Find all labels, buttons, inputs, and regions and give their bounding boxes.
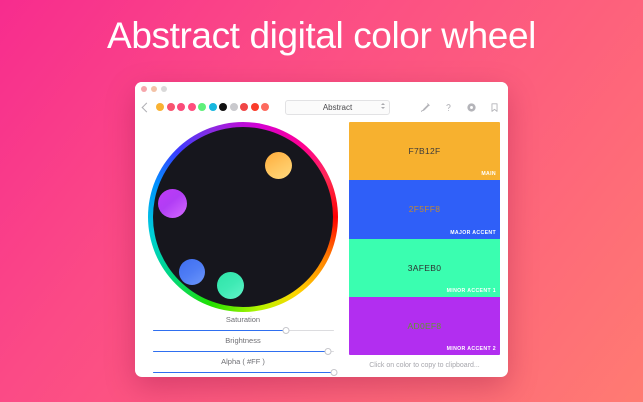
palette-dot-list <box>156 103 269 111</box>
color-wheel[interactable] <box>145 122 341 312</box>
wheel-dot-orange[interactable] <box>265 152 292 179</box>
swatch-role: MINOR ACCENT 1 <box>447 288 496 294</box>
help-icon[interactable] <box>443 102 454 113</box>
slider-fill <box>153 351 329 353</box>
alpha-slider[interactable] <box>153 368 334 377</box>
swatch-hex: 3AFEB0 <box>408 263 441 273</box>
slider-knob[interactable] <box>330 369 337 376</box>
slider-row-brightness: Brightness <box>153 336 334 356</box>
slider-fill <box>153 330 287 332</box>
swatch-role: MAJOR ACCENT <box>450 230 496 236</box>
wheel-dot-mint[interactable] <box>217 272 244 299</box>
toolbar-icon-group <box>420 102 500 113</box>
slider-knob[interactable] <box>325 348 332 355</box>
eyedropper-icon[interactable] <box>420 102 431 113</box>
wheel-pane: Saturation Brightness <box>143 122 343 377</box>
swatch-hex: 2F5FF8 <box>409 204 441 214</box>
preset-select-value: Abstract <box>323 103 352 112</box>
palette-dot-2[interactable] <box>167 103 175 111</box>
chevron-updown-icon <box>381 103 385 109</box>
swatch-minor-accent-2[interactable]: AD0EF8 MINOR ACCENT 2 <box>349 297 500 355</box>
swatch-hex: AD0EF8 <box>408 321 442 331</box>
palette-dot-9[interactable] <box>240 103 248 111</box>
slider-knob[interactable] <box>283 327 290 334</box>
close-button[interactable] <box>141 86 147 92</box>
chevron-left-icon[interactable] <box>140 101 151 114</box>
palette-dot-5[interactable] <box>198 103 206 111</box>
slider-label-saturation: Saturation <box>226 315 260 324</box>
swatch-role: MINOR ACCENT 2 <box>447 346 496 352</box>
swatch-pane: F7B12F MAIN 2F5FF8 MAJOR ACCENT 3AFEB0 M… <box>349 122 500 377</box>
slider-label-alpha: Alpha ( #FF ) <box>221 357 265 366</box>
palette-dot-3[interactable] <box>177 103 185 111</box>
slider-group: Saturation Brightness <box>153 315 334 377</box>
preset-select[interactable]: Abstract <box>285 100 390 115</box>
page-title: Abstract digital color wheel <box>0 14 643 58</box>
brightness-slider[interactable] <box>153 347 334 356</box>
palette-dot-10[interactable] <box>251 103 259 111</box>
toolbar: Abstract <box>135 96 508 118</box>
swatch-list: F7B12F MAIN 2F5FF8 MAJOR ACCENT 3AFEB0 M… <box>349 122 500 355</box>
swatch-main[interactable]: F7B12F MAIN <box>349 122 500 180</box>
swatch-role: MAIN <box>481 171 496 177</box>
wheel-dot-blue[interactable] <box>179 259 205 285</box>
palette-dot-11[interactable] <box>261 103 269 111</box>
slider-row-alpha: Alpha ( #FF ) <box>153 357 334 377</box>
palette-dot-4[interactable] <box>188 103 196 111</box>
color-wheel-ring[interactable] <box>148 122 338 312</box>
copy-hint: Click on color to copy to clipboard... <box>349 361 500 371</box>
slider-label-brightness: Brightness <box>225 336 260 345</box>
swatch-minor-accent-1[interactable]: 3AFEB0 MINOR ACCENT 1 <box>349 239 500 297</box>
swatch-major-accent[interactable]: 2F5FF8 MAJOR ACCENT <box>349 180 500 238</box>
slider-row-saturation: Saturation <box>153 315 334 335</box>
palette-dot-1[interactable] <box>156 103 164 111</box>
swatch-hex: F7B12F <box>408 146 440 156</box>
saturation-slider[interactable] <box>153 326 334 335</box>
palette-dot-7[interactable] <box>219 103 227 111</box>
palette-dot-6[interactable] <box>209 103 217 111</box>
slider-fill <box>153 372 334 374</box>
wheel-dot-purple[interactable] <box>158 189 187 218</box>
minimize-button[interactable] <box>151 86 157 92</box>
window-body: Saturation Brightness <box>135 118 508 377</box>
window-titlebar <box>135 82 508 96</box>
info-icon[interactable] <box>466 102 477 113</box>
palette-dot-8[interactable] <box>230 103 238 111</box>
bookmark-icon[interactable] <box>489 102 500 113</box>
zoom-button[interactable] <box>161 86 167 92</box>
screenshot-root: Abstract digital color wheel <box>0 0 643 402</box>
app-window: Abstract <box>135 82 508 377</box>
